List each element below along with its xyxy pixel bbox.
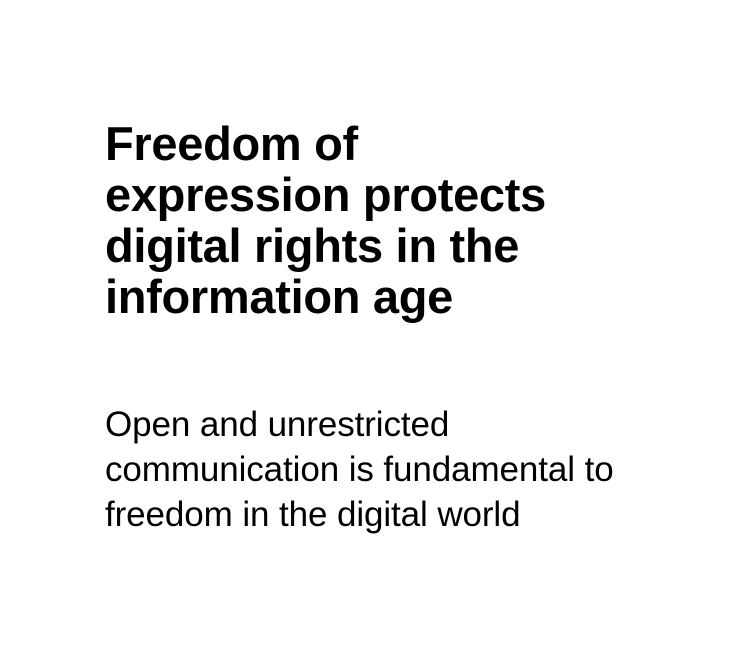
body-paragraph: Open and unrestricted communication is f…: [105, 402, 637, 537]
slide-canvas: Freedom of expression protects digital r…: [0, 0, 750, 650]
page-title: Freedom of expression protects digital r…: [105, 118, 610, 322]
body-block: Open and unrestricted communication is f…: [105, 402, 665, 537]
headline-block: Freedom of expression protects digital r…: [105, 118, 665, 322]
